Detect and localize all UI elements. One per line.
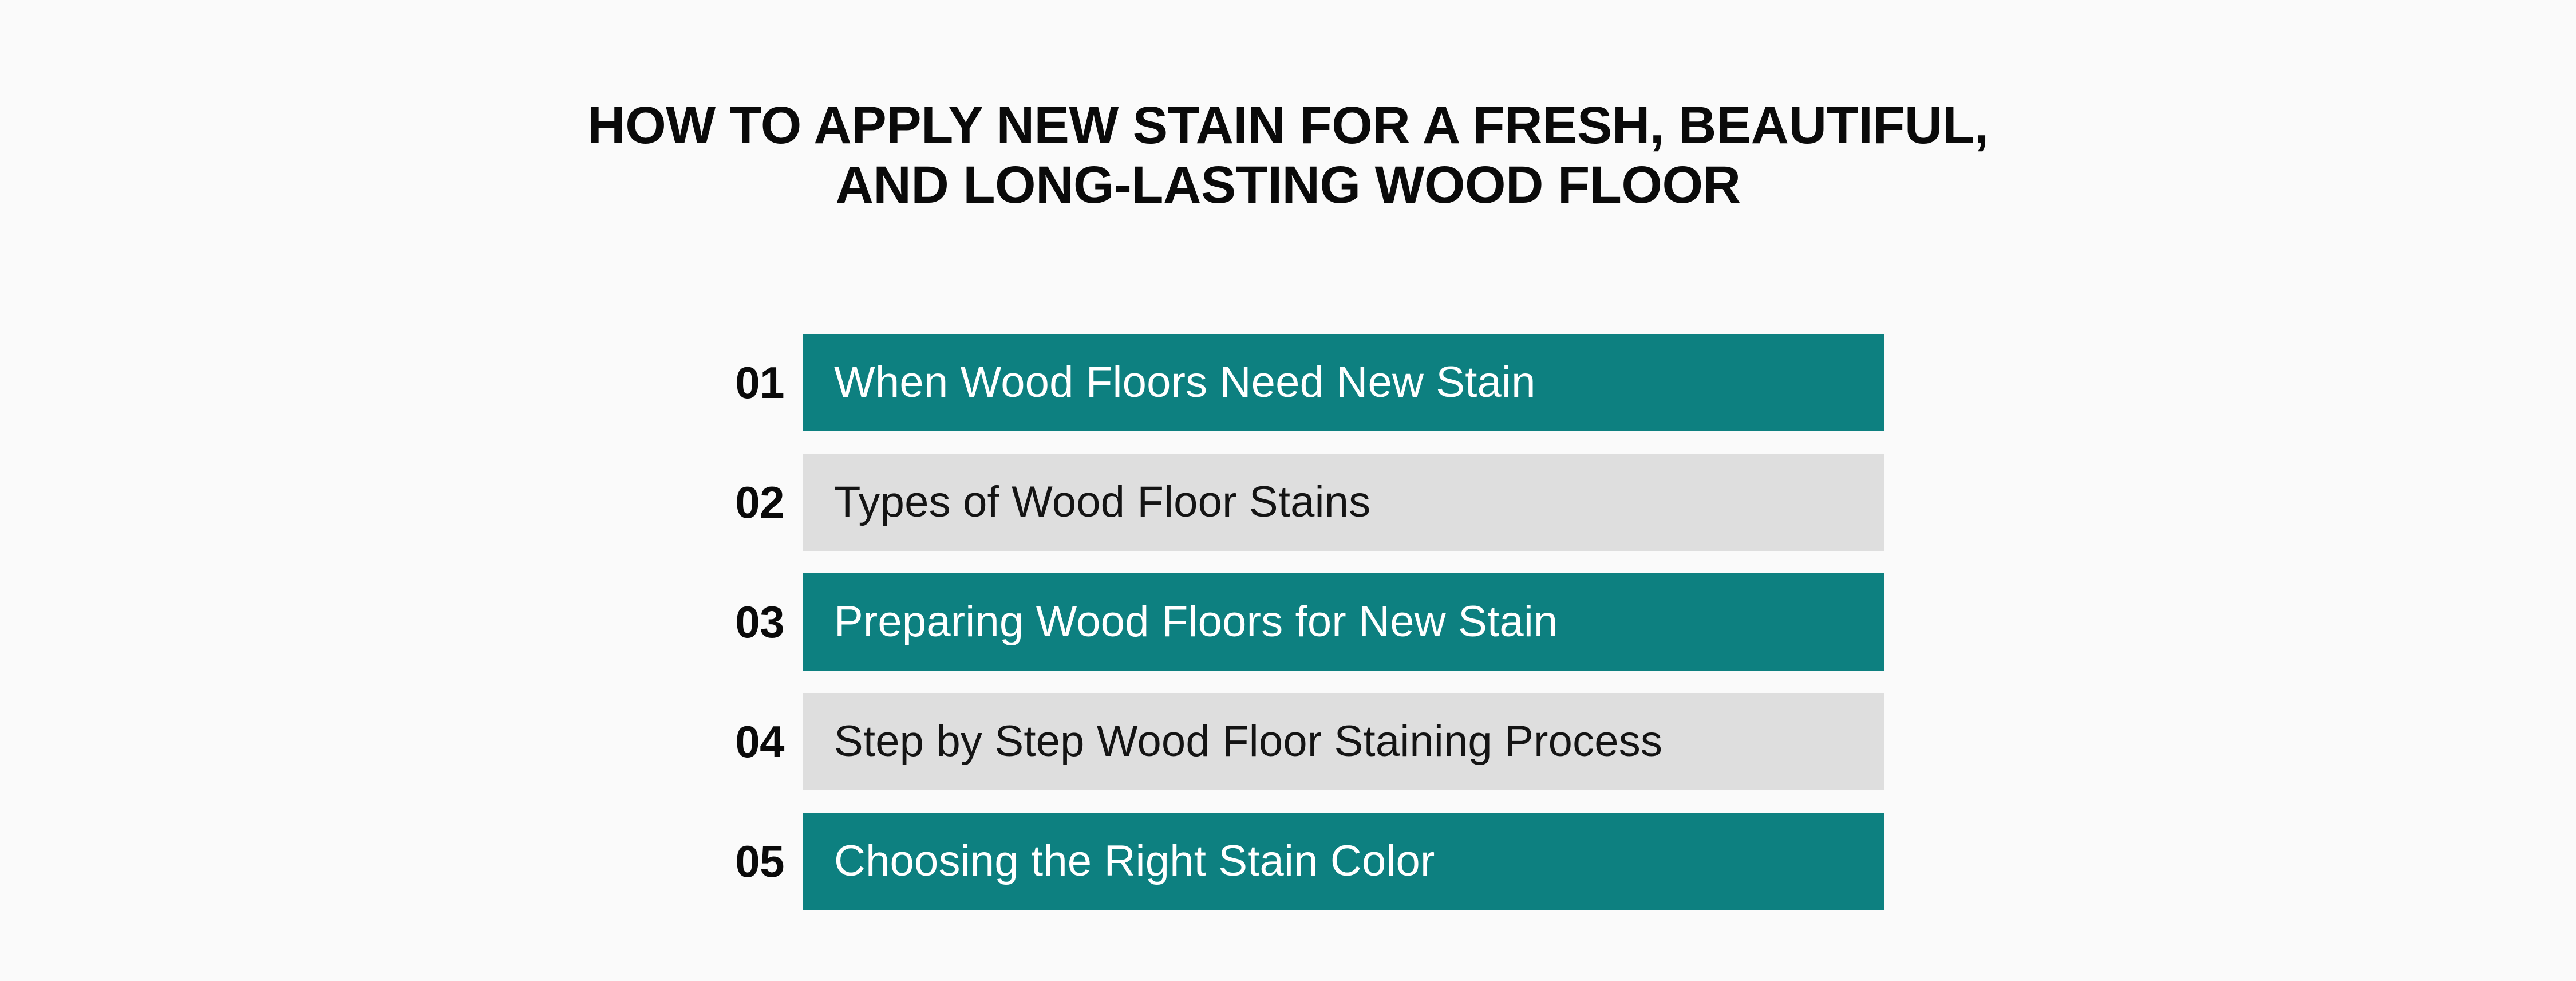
list-item-number: 03 — [572, 573, 784, 671]
page-title-line-1: HOW TO APPLY NEW STAIN FOR A FRESH, BEAU… — [0, 96, 2576, 156]
list-item-label: Preparing Wood Floors for New Stain — [834, 600, 1558, 644]
list-item-bar[interactable]: Types of Wood Floor Stains — [803, 454, 1884, 551]
list-item[interactable]: 02 Types of Wood Floor Stains — [0, 454, 2576, 551]
page-title: HOW TO APPLY NEW STAIN FOR A FRESH, BEAU… — [0, 96, 2576, 215]
list-item-bar[interactable]: Step by Step Wood Floor Staining Process — [803, 693, 1884, 790]
list-item-label: Step by Step Wood Floor Staining Process — [834, 720, 1662, 763]
list-item[interactable]: 01 When Wood Floors Need New Stain — [0, 334, 2576, 431]
list-item[interactable]: 03 Preparing Wood Floors for New Stain — [0, 573, 2576, 671]
table-of-contents-list: 01 When Wood Floors Need New Stain 02 Ty… — [0, 334, 2576, 910]
page-title-line-2: AND LONG-LASTING WOOD FLOOR — [0, 156, 2576, 215]
list-item-number: 05 — [572, 813, 784, 910]
list-item-label: Choosing the Right Stain Color — [834, 840, 1435, 883]
list-item-bar[interactable]: Choosing the Right Stain Color — [803, 813, 1884, 910]
list-item[interactable]: 04 Step by Step Wood Floor Staining Proc… — [0, 693, 2576, 790]
list-item-number: 02 — [572, 454, 784, 551]
list-item-number: 01 — [572, 334, 784, 431]
infographic-canvas: HOW TO APPLY NEW STAIN FOR A FRESH, BEAU… — [0, 0, 2576, 981]
list-item-label: When Wood Floors Need New Stain — [834, 361, 1536, 404]
list-item-label: Types of Wood Floor Stains — [834, 480, 1370, 524]
list-item[interactable]: 05 Choosing the Right Stain Color — [0, 813, 2576, 910]
list-item-number: 04 — [572, 693, 784, 790]
list-item-bar[interactable]: When Wood Floors Need New Stain — [803, 334, 1884, 431]
list-item-bar[interactable]: Preparing Wood Floors for New Stain — [803, 573, 1884, 671]
